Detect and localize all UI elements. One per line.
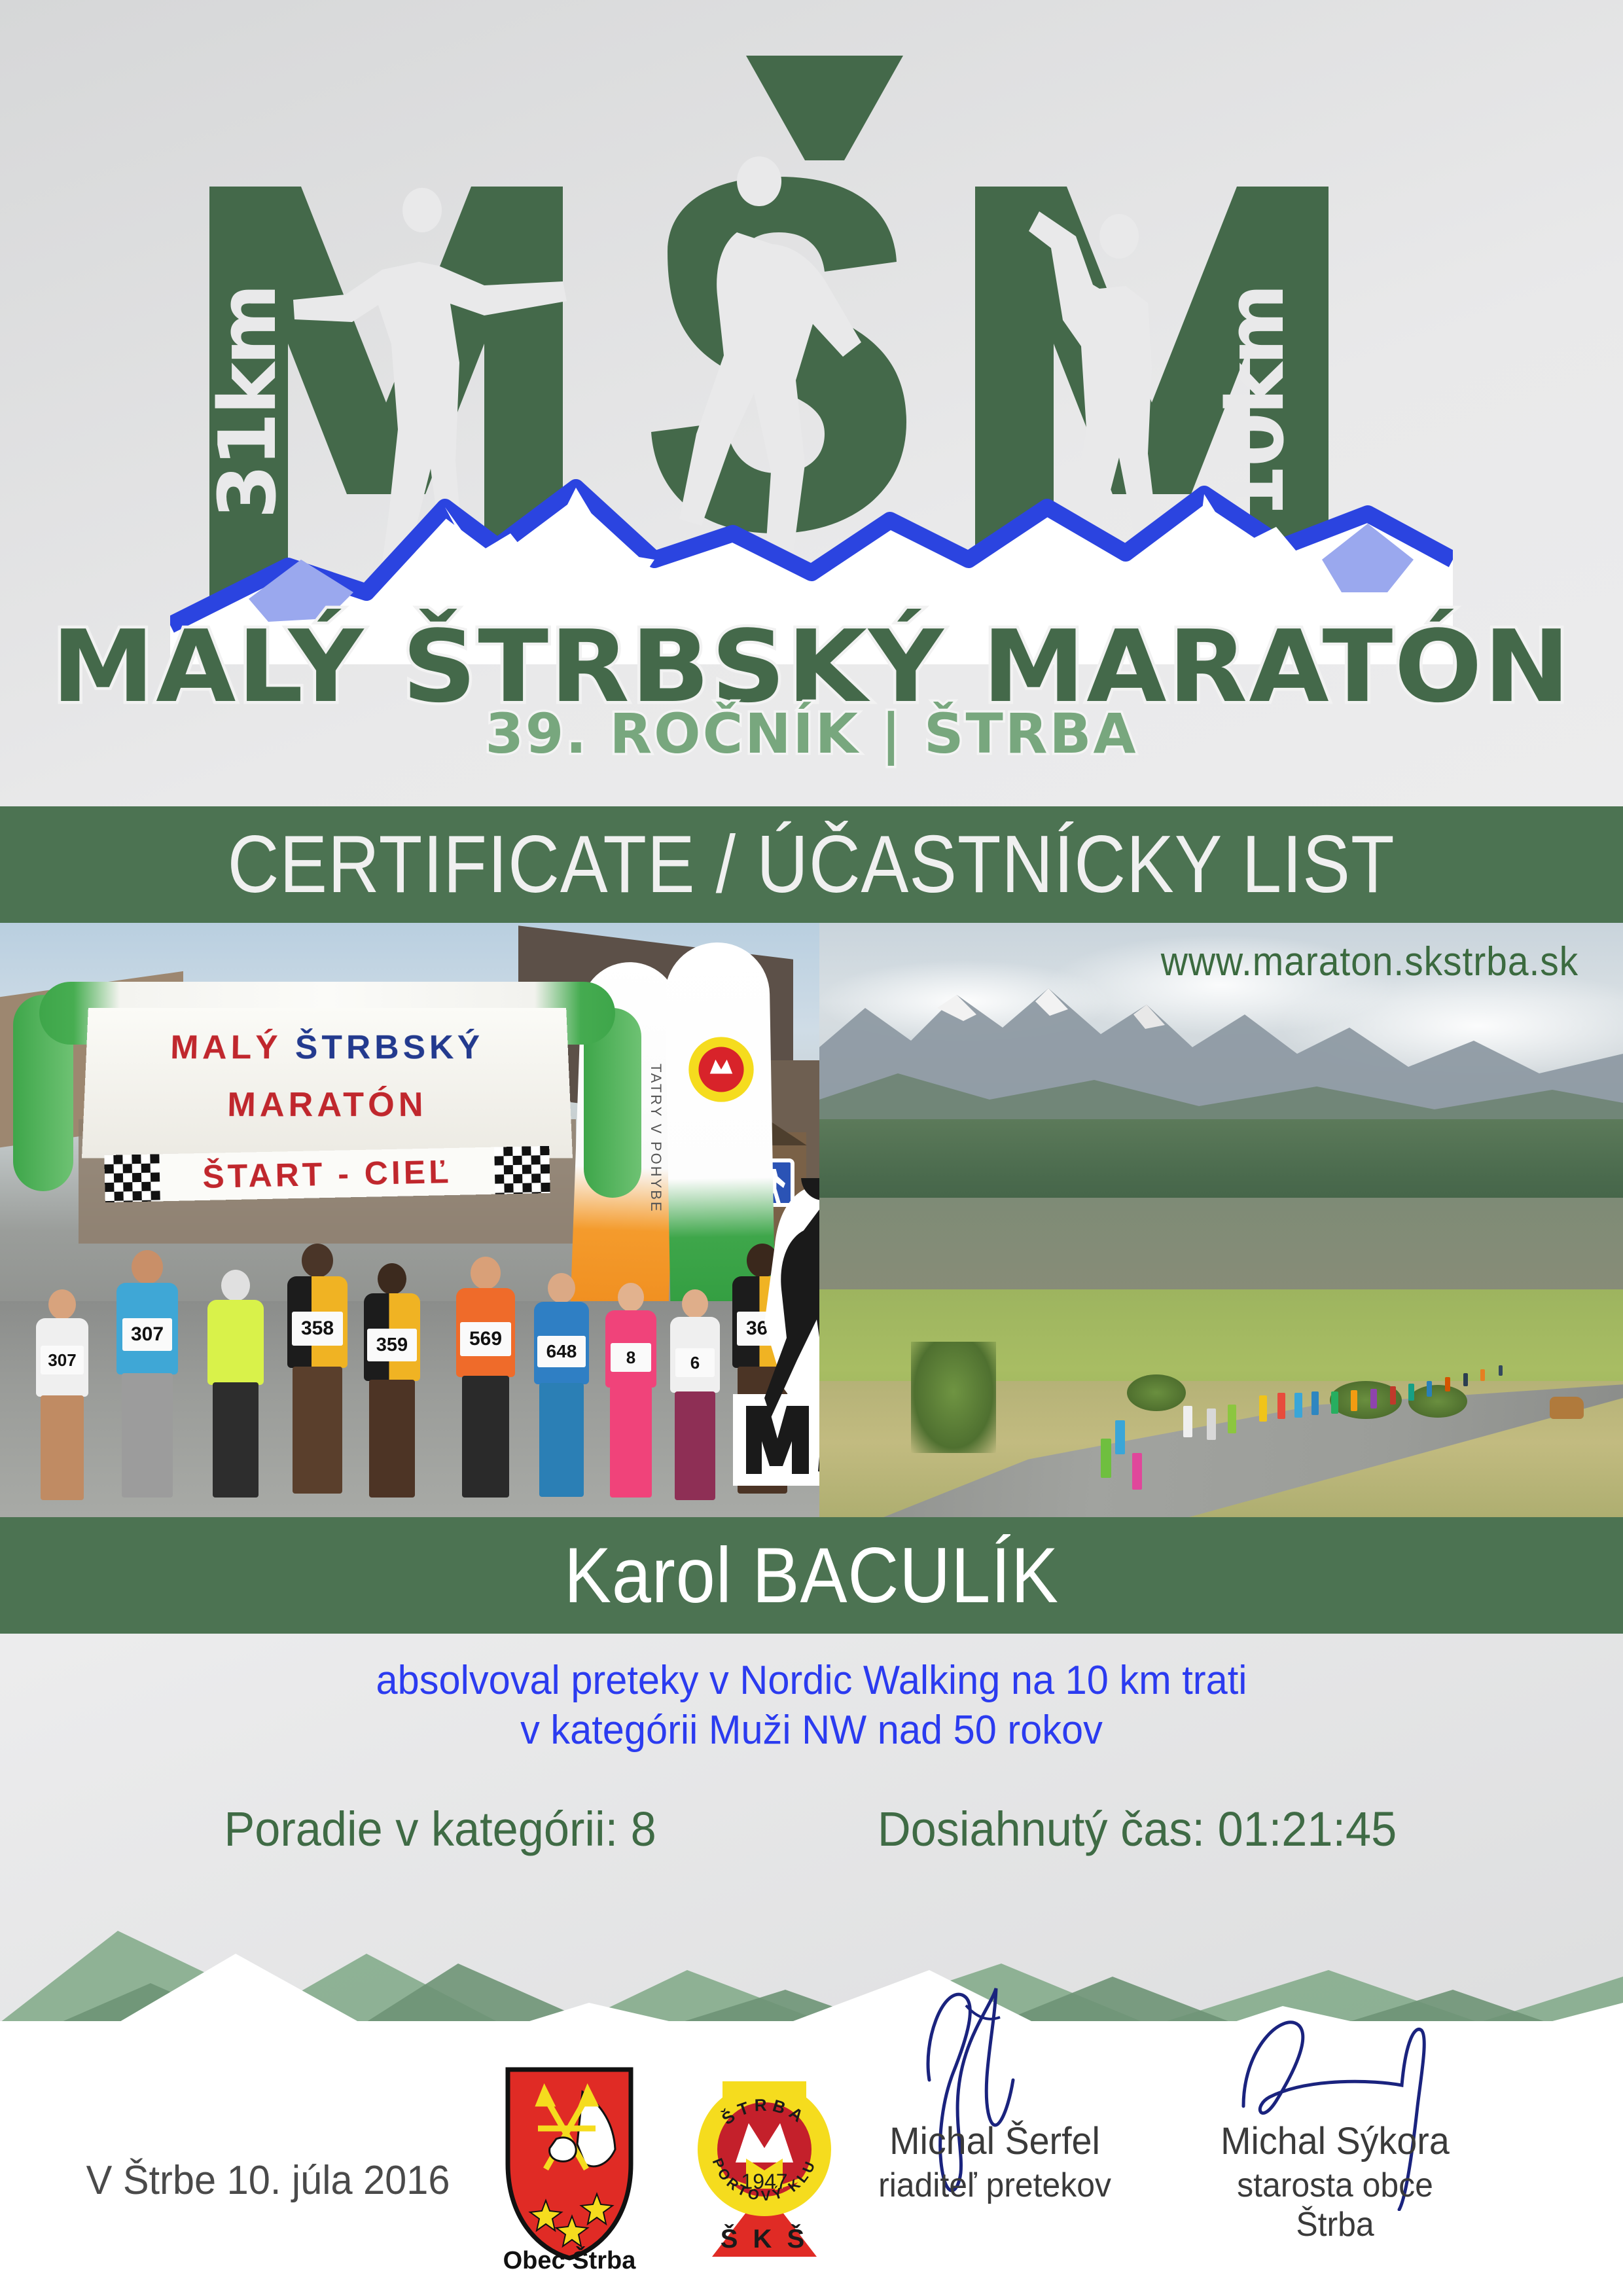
runner-legs: [462, 1376, 509, 1498]
signature-block-director: Michal Šerfel riaditeľ pretekov: [857, 2119, 1132, 2205]
runner-bib: 8: [611, 1343, 651, 1372]
runner: 358: [275, 1244, 360, 1505]
runner-distant: [1228, 1405, 1236, 1433]
runner-distant: [1463, 1373, 1468, 1386]
runner-head: [548, 1273, 575, 1303]
runner-distant: [1480, 1369, 1485, 1381]
runner-distant: [1311, 1391, 1319, 1415]
checker-right: [494, 1146, 550, 1194]
svg-text:10km: 10km: [1211, 286, 1302, 519]
runner-legs: [610, 1386, 652, 1498]
photo-strip: TATRY V POHYBE MALÝ ŠTRBSKÝ MARATÓN: [0, 923, 1623, 1517]
msm-logo-svg: 31km 10km: [170, 36, 1453, 664]
runner-distant: [1390, 1386, 1396, 1405]
runner-distant: [1331, 1391, 1338, 1414]
runner-distant: [1294, 1393, 1302, 1418]
signature-role: riaditeľ pretekov: [863, 2166, 1126, 2205]
signature-block-mayor: Michal Sýkora starosta obce Štrba: [1198, 2119, 1472, 2244]
start-finish-banner: ŠTART - CIEĽ: [104, 1146, 550, 1202]
runner: 8: [596, 1283, 666, 1505]
runner-legs: [675, 1391, 715, 1500]
runner-head: [618, 1283, 644, 1312]
bush: [1408, 1385, 1467, 1418]
photo-start-line: TATRY V POHYBE MALÝ ŠTRBSKÝ MARATÓN: [0, 923, 819, 1517]
obec-strba-crest-icon: [504, 2066, 635, 2262]
runner-head: [682, 1289, 708, 1318]
arch-word-maly: MALÝ: [170, 1029, 282, 1066]
arch-title-line2: MARATÓN: [83, 1085, 571, 1124]
runner-distant: [1101, 1439, 1111, 1478]
event-subtitle: 39. ROČNÍK | ŠTRBA: [0, 702, 1623, 766]
description-line-1: absolvoval preteky v Nordic Walking na 1…: [33, 1656, 1591, 1706]
runner-bib: 6: [675, 1348, 715, 1377]
runner-legs: [369, 1380, 415, 1498]
photo-mountain-road: www.maraton.skstrba.sk: [819, 923, 1623, 1517]
arch-word-strbsky: ŠTRBSKÝ: [295, 1029, 485, 1066]
certificate-banner-label: CERTIFICATE / ÚČASTNÍCKY LIST: [228, 818, 1395, 911]
results-row: Poradie v kategórii: 8 Dosiahnutý čas: 0…: [0, 1801, 1623, 1857]
msm-cutout-emblem-icon: [726, 1178, 819, 1505]
runner-legs: [213, 1382, 259, 1498]
signature-name: Michal Šerfel: [863, 2119, 1126, 2163]
msm-logo: 31km 10km: [170, 36, 1453, 664]
certificate-page: 31km 10km: [0, 0, 1623, 2296]
svg-text:31km: 31km: [203, 286, 294, 519]
certificate-banner: CERTIFICATE / ÚČASTNÍCKY LIST: [0, 806, 1623, 923]
runner-head: [471, 1257, 501, 1289]
arch-panel: MALÝ ŠTRBSKÝ MARATÓN: [82, 1008, 573, 1158]
start-finish-label: ŠTART - CIEĽ: [202, 1153, 452, 1196]
runner: 359: [353, 1263, 431, 1505]
placement-value: Poradie v kategórii: 8: [224, 1801, 656, 1857]
start-arch: MALÝ ŠTRBSKÝ MARATÓN ŠTART - CIEĽ: [13, 969, 641, 1185]
runner-bib: 307: [122, 1318, 172, 1351]
issue-date: V Štrbe 10. júla 2016: [86, 2157, 450, 2204]
runner-bib: 359: [367, 1329, 417, 1361]
runner-legs: [122, 1373, 173, 1498]
bush: [1127, 1374, 1186, 1411]
runner-head: [48, 1289, 76, 1319]
caron-mark: [746, 56, 903, 160]
runner: 307: [105, 1250, 190, 1505]
runner-distant: [1408, 1384, 1414, 1401]
runner-distant: [1427, 1381, 1432, 1397]
runner-distant: [1445, 1377, 1450, 1391]
runner-bib: 569: [460, 1322, 511, 1356]
runner-bib: 307: [41, 1346, 84, 1374]
sks-club-logo-icon: ŠTRBA ŠPORTOVÝ KLUB 1947 Š K Š: [686, 2060, 843, 2270]
certificate-description: absolvoval preteky v Nordic Walking na 1…: [33, 1656, 1591, 1755]
runner-head: [221, 1270, 250, 1301]
sks-year: 1947: [741, 2170, 787, 2193]
runner-torso: [207, 1300, 264, 1385]
runner-distant: [1351, 1390, 1357, 1411]
runner-distant: [1132, 1453, 1142, 1490]
runner-bib: 648: [537, 1336, 586, 1367]
description-line-2: v kategórii Muži NW nad 50 rokov: [33, 1706, 1591, 1755]
runner: 569: [445, 1257, 526, 1505]
runner-head: [302, 1244, 333, 1278]
checker-left: [104, 1154, 160, 1202]
finish-time-value: Dosiahnutý čas: 01:21:45: [878, 1801, 1397, 1857]
runner: 648: [524, 1273, 599, 1505]
runner-distant: [1259, 1395, 1267, 1422]
runner-legs: [539, 1383, 584, 1497]
runner-legs: [41, 1395, 84, 1500]
runner-head: [378, 1263, 406, 1295]
flag-sks-emblem-icon: [686, 1034, 757, 1105]
runner-distant: [1183, 1406, 1192, 1437]
obec-strba-caption: Obec Štrba: [488, 2247, 651, 2275]
participant-name: Karol BACULÍK: [564, 1530, 1059, 1621]
runner-distant: [1499, 1365, 1503, 1376]
signature-role: starosta obce Štrba: [1203, 2166, 1467, 2244]
participant-name-banner: Karol BACULÍK: [0, 1517, 1623, 1634]
distance-left-label: 31km: [203, 286, 294, 519]
header-logo-zone: 31km 10km: [0, 0, 1623, 795]
website-url: www.maraton.skstrba.sk: [1161, 939, 1578, 985]
runner-distant: [1207, 1408, 1216, 1440]
runner-distant: [1115, 1420, 1125, 1454]
runner: 6: [661, 1289, 729, 1505]
distance-right-label: 10km: [1211, 286, 1302, 519]
runner-distant: [1370, 1389, 1377, 1408]
roadside-tree: [911, 1342, 996, 1453]
runner-head: [132, 1250, 163, 1284]
arch-word-maraton: MARATÓN: [227, 1086, 427, 1124]
cow: [1550, 1397, 1584, 1419]
signature-name: Michal Sýkora: [1203, 2119, 1467, 2163]
arch-title-line1: MALÝ ŠTRBSKÝ: [86, 1028, 569, 1067]
runner-legs: [293, 1367, 342, 1494]
runner: 307: [26, 1289, 98, 1505]
sks-bottom-text: Š K Š: [721, 2223, 808, 2253]
certificate-footer: V Štrbe 10. júla 2016 Obec Štrba: [0, 2021, 1623, 2296]
runner-distant: [1277, 1393, 1285, 1419]
runner-bib: 358: [292, 1312, 343, 1346]
runner: [196, 1270, 275, 1505]
